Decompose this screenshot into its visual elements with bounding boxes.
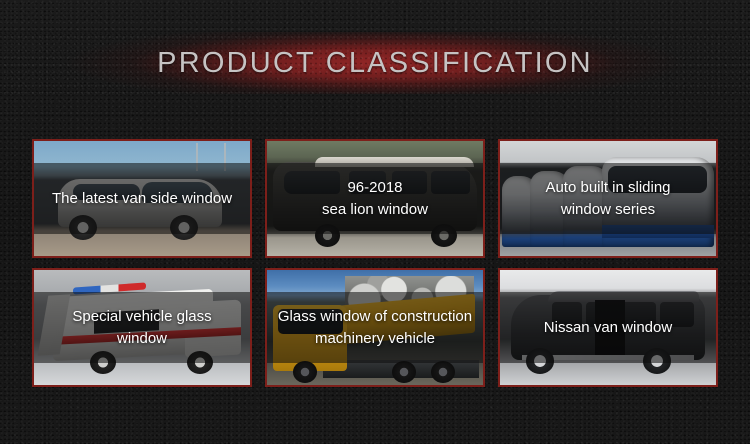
product-card-sea-lion-window[interactable]: 96-2018 sea lion window xyxy=(265,139,485,258)
card-label: Auto built in sliding window series xyxy=(500,141,716,256)
card-label: Special vehicle glass window xyxy=(34,270,250,385)
product-card-the-latest-van-side-window[interactable]: The latest van side window xyxy=(32,139,252,258)
product-card-special-vehicle-glass-window[interactable]: Special vehicle glass window xyxy=(32,268,252,387)
card-label: Glass window of construction machinery v… xyxy=(267,270,483,385)
product-card-construction-machinery-vehicle[interactable]: Glass window of construction machinery v… xyxy=(265,268,485,387)
card-label: 96-2018 sea lion window xyxy=(267,141,483,256)
page-title: PRODUCT CLASSIFICATION xyxy=(0,24,750,102)
product-card-nissan-van-window[interactable]: Nissan van window xyxy=(498,268,718,387)
card-label: The latest van side window xyxy=(34,141,250,256)
page-header: PRODUCT CLASSIFICATION xyxy=(0,24,750,102)
card-label: Nissan van window xyxy=(500,270,716,385)
product-category-grid: The latest van side window 96-2018 sea l… xyxy=(32,139,718,387)
product-card-auto-built-in-sliding-window-series[interactable]: Auto built in sliding window series xyxy=(498,139,718,258)
page-background: PRODUCT CLASSIFICATION The latest van si… xyxy=(0,0,750,444)
